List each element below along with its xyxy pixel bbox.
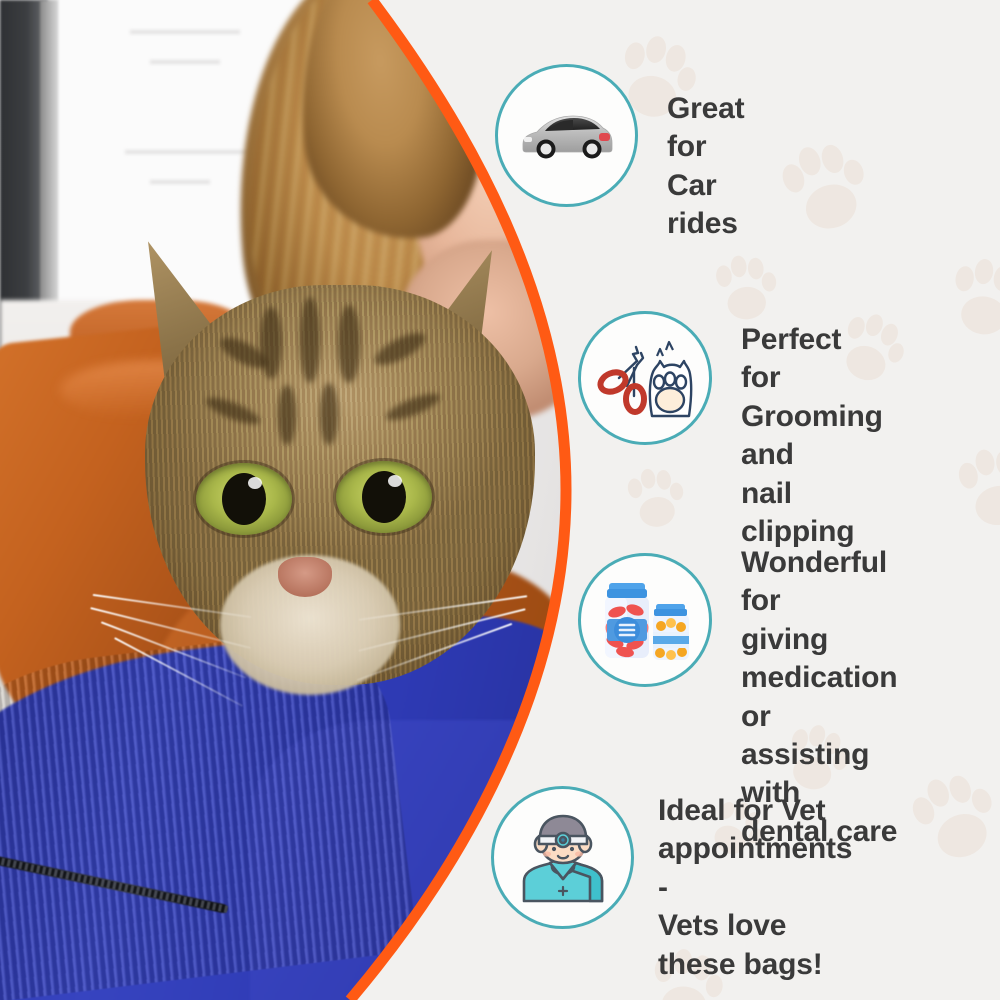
infographic-page: Great for Car rides (0, 0, 1000, 1000)
feature-vet-appointments[interactable]: Ideal for Vet appointments - Vets love t… (491, 786, 634, 929)
feature-medication[interactable]: Wonderful for giving medication or assis… (578, 553, 712, 687)
car-icon-badge (495, 64, 638, 207)
nail-clippers-paw-icon-badge (578, 311, 712, 445)
pill-bottles-icon (595, 574, 695, 666)
veterinarian-icon-badge (491, 786, 634, 929)
feature-grooming[interactable]: Perfect for Grooming and nail clipping (578, 311, 712, 445)
feature-label: Perfect for Grooming and nail clipping (741, 321, 883, 551)
car-icon (519, 110, 615, 162)
feature-label: Great for Car rides (667, 90, 744, 244)
paw-print-icon (709, 251, 781, 328)
paw-print-icon (620, 463, 689, 537)
nail-clippers-paw-icon (597, 334, 693, 422)
feature-label: Ideal for Vet appointments - Vets love t… (658, 792, 852, 984)
veterinarian-icon (514, 811, 612, 905)
paw-print-icon (941, 253, 1000, 347)
pill-bottles-icon-badge (578, 553, 712, 687)
feature-car-rides[interactable]: Great for Car rides (495, 64, 638, 207)
cat-photo-subject (100, 235, 570, 795)
